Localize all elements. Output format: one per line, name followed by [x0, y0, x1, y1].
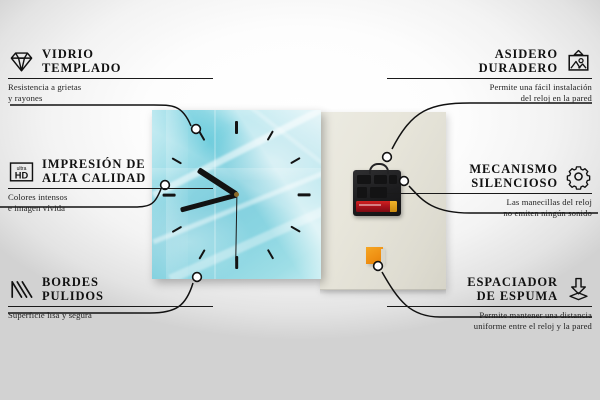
feature-vidrio-templado[interactable]: VIDRIO TEMPLADO Resistencia a grietas y … [8, 47, 213, 103]
feature-header: ASIDERO DURADERO [387, 47, 592, 75]
feature-title: IMPRESIÓN DE ALTA CALIDAD [42, 157, 146, 185]
polished-edges-icon [8, 276, 35, 303]
feature-subtitle-line1: Colores intensos [8, 192, 213, 203]
hanging-picture-icon [565, 48, 592, 75]
feature-subtitle-line2: y rayones [8, 93, 213, 104]
ultra-hd-icon-main-text: HD [15, 170, 29, 180]
divider [8, 188, 213, 189]
feature-subtitle-line2: no emiten ningún sonido [387, 208, 592, 219]
divider [387, 78, 592, 79]
gear-icon [565, 163, 592, 190]
connector-vidrio [10, 105, 191, 126]
feature-espaciador-de-espuma[interactable]: ESPACIADOR DE ESPUMA Permite mantener un… [387, 275, 592, 331]
feature-title: ASIDERO DURADERO [479, 47, 558, 75]
feature-impresion-alta-calidad[interactable]: ultra HD IMPRESIÓN DE ALTA CALIDAD Color… [8, 157, 213, 213]
connector-endpoint-vidrio [192, 125, 201, 134]
connector-endpoint-espaciador [374, 262, 383, 271]
feature-header: VIDRIO TEMPLADO [8, 47, 213, 75]
ultra-hd-icon: ultra HD [8, 158, 35, 185]
feature-subtitle-line2: uniforme entre el reloj y la pared [387, 321, 592, 332]
feature-header: ESPACIADOR DE ESPUMA [387, 275, 592, 303]
feature-header: MECANISMO SILENCIOSO [387, 162, 592, 190]
feature-title: MECANISMO SILENCIOSO [469, 162, 558, 190]
feature-subtitle-line1: Superficie lisa y segura [8, 310, 213, 321]
feature-header: BORDES PULIDOS [8, 275, 213, 303]
divider [8, 306, 213, 307]
feature-header: ultra HD IMPRESIÓN DE ALTA CALIDAD [8, 157, 213, 185]
divider [387, 193, 592, 194]
feature-title: BORDES PULIDOS [42, 275, 104, 303]
feature-title: ESPACIADOR DE ESPUMA [467, 275, 558, 303]
feature-bordes-pulidos[interactable]: BORDES PULIDOS Superficie lisa y segura [8, 275, 213, 321]
diamond-icon [8, 48, 35, 75]
infographic-canvas: VIDRIO TEMPLADO Resistencia a grietas y … [0, 0, 600, 400]
feature-title: VIDRIO TEMPLADO [42, 47, 121, 75]
connector-endpoint-asidero [383, 153, 392, 162]
feature-asidero-duradero[interactable]: ASIDERO DURADERO Permite una fácil insta… [387, 47, 592, 103]
divider [387, 306, 592, 307]
feature-subtitle-line1: Permite mantener una distancia [387, 310, 592, 321]
feature-subtitle-line2: e imagen vívida [8, 203, 213, 214]
divider [8, 78, 213, 79]
connector-asidero [392, 103, 592, 149]
feature-subtitle-line1: Permite una fácil instalación [387, 82, 592, 93]
feature-subtitle-line1: Resistencia a grietas [8, 82, 213, 93]
feature-mecanismo-silencioso[interactable]: MECANISMO SILENCIOSO Las manecillas del … [387, 162, 592, 218]
foam-spacer-arrow-icon [565, 276, 592, 303]
feature-subtitle-line1: Las manecillas del reloj [387, 197, 592, 208]
feature-subtitle-line2: del reloj en la pared [387, 93, 592, 104]
